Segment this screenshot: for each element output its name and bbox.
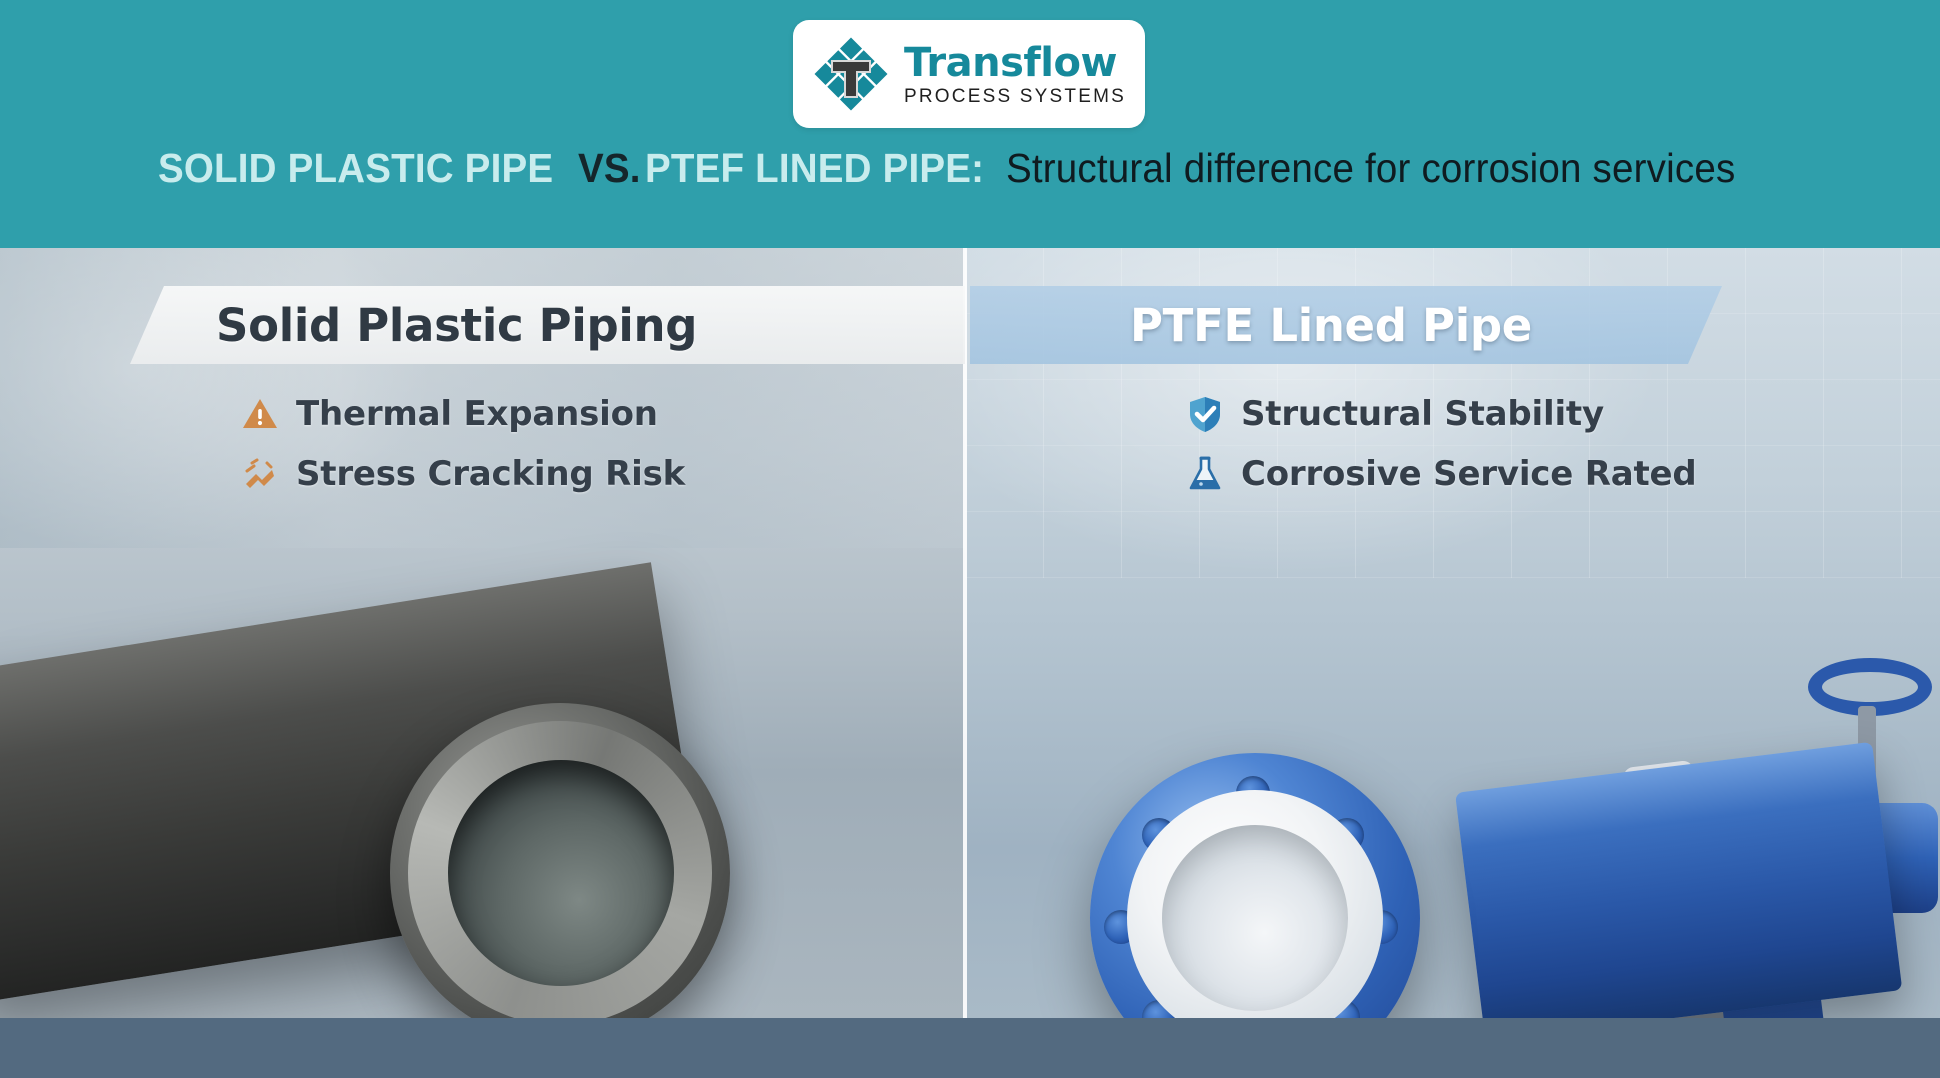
flask-beaker-icon	[1185, 454, 1225, 494]
headline-emphasis-left: SOLID PLASTIC PIPE	[158, 145, 553, 192]
comparison-hero: Solid Plastic Piping PTFE Lined Pipe The…	[0, 248, 1940, 1018]
left-panel-banner: Solid Plastic Piping	[130, 286, 965, 364]
left-feature-list: Thermal Expansion Stress Cracking Risk	[240, 390, 685, 498]
solid-plastic-pipe-bore	[448, 760, 674, 986]
feature-item-corrosive-service-rated: Corrosive Service Rated	[1185, 450, 1697, 498]
infographic-page: Transflow PROCESS SYSTEMS SOLID PLASTIC …	[0, 0, 1940, 1078]
right-panel-title: PTFE Lined Pipe	[1130, 299, 1532, 352]
crack-fracture-icon	[240, 454, 280, 494]
left-panel-title: Solid Plastic Piping	[216, 299, 697, 352]
brand-tagline: PROCESS SYSTEMS	[904, 87, 1126, 106]
brand-name: Transflow	[904, 43, 1117, 83]
page-title: SOLID PLASTIC PIPE VS. PTEF LINED PIPE: …	[0, 128, 1940, 208]
feature-item-structural-stability: Structural Stability	[1185, 390, 1697, 438]
feature-item-stress-cracking-risk: Stress Cracking Risk	[240, 450, 685, 498]
header-bar: Transflow PROCESS SYSTEMS SOLID PLASTIC …	[0, 0, 1940, 248]
shield-check-icon	[1185, 394, 1225, 434]
feature-label: Corrosive Service Rated	[1241, 454, 1697, 494]
footer-bar	[0, 1018, 1940, 1078]
ptfe-lined-bore	[1162, 825, 1348, 1011]
brand-logo-card[interactable]: Transflow PROCESS SYSTEMS	[793, 20, 1145, 128]
headline-emphasis-right: PTEF LINED PIPE:	[645, 145, 984, 192]
feature-label: Thermal Expansion	[296, 394, 658, 434]
teal-diamond-t-logo-icon	[812, 35, 890, 113]
feature-label: Structural Stability	[1241, 394, 1604, 434]
feature-label: Stress Cracking Risk	[296, 454, 685, 494]
headline-vs: VS.	[578, 145, 641, 192]
feature-item-thermal-expansion: Thermal Expansion	[240, 390, 685, 438]
warning-triangle-icon	[240, 394, 280, 434]
right-panel-banner: PTFE Lined Pipe	[970, 286, 1722, 364]
headline-subtitle: Structural difference for corrosion serv…	[1006, 145, 1735, 192]
right-feature-list: Structural Stability Corrosive Service R…	[1185, 390, 1697, 498]
